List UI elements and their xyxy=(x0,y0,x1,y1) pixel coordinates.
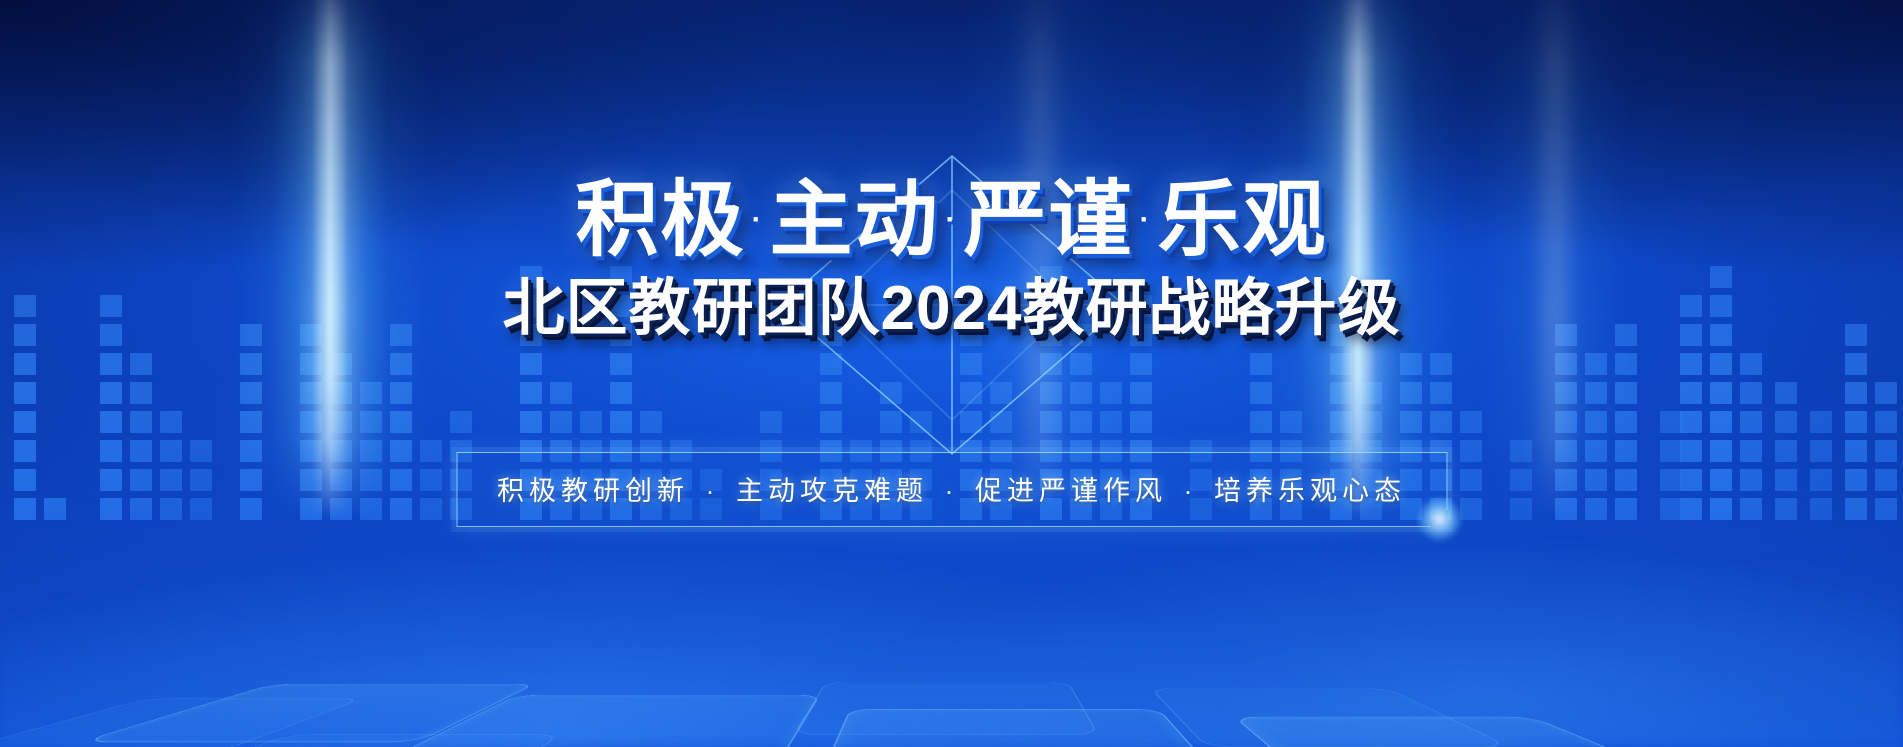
tagline-item: 积极教研创新 xyxy=(497,476,689,506)
tagline-separator: · xyxy=(928,476,975,506)
title-word: 积极 xyxy=(576,173,746,266)
tagline-item: 主动攻克难题 xyxy=(736,476,928,506)
glow-orb xyxy=(1416,496,1462,542)
banner-subtitle: 北区教研团队2024教研战略升级 xyxy=(503,278,1401,340)
title-word: 主动 xyxy=(770,173,940,266)
tagline-item: 促进严谨作风 xyxy=(975,476,1167,506)
tagline-item: 培养乐观心态 xyxy=(1214,476,1406,506)
tagline-separator: · xyxy=(689,476,736,506)
tagline-text: 积极教研创新 · 主动攻克难题 · 促进严谨作风 · 培养乐观心态 xyxy=(497,469,1406,508)
banner-content: 积极·主动·严谨·乐观 北区教研团队2024教研战略升级 积极教研创新 · 主动… xyxy=(0,0,1903,747)
tagline-container: 积极教研创新 · 主动攻克难题 · 促进严谨作风 · 培养乐观心态 xyxy=(456,452,1447,527)
title-separator-dot: · xyxy=(752,205,764,235)
tagline-separator: · xyxy=(1167,476,1214,506)
title-separator-dot: · xyxy=(1140,205,1152,235)
title-word: 乐观 xyxy=(1158,173,1328,266)
title-separator-dot: · xyxy=(946,205,958,235)
banner-canvas: 积极·主动·严谨·乐观 北区教研团队2024教研战略升级 积极教研创新 · 主动… xyxy=(0,0,1903,747)
tagline-box: 积极教研创新 · 主动攻克难题 · 促进严谨作风 · 培养乐观心态 xyxy=(456,452,1447,527)
banner-title: 积极·主动·严谨·乐观 xyxy=(576,178,1328,261)
title-word: 严谨 xyxy=(964,173,1134,266)
